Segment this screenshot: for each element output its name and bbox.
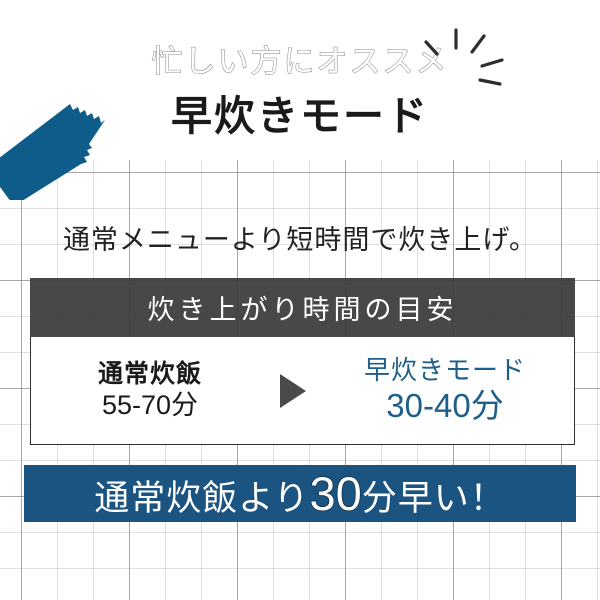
infographic-page: 忙しい方にオススメ 早炊きモード 通常メニューより短時間で炊き上げ。 炊き上がり…	[0, 0, 600, 600]
normal-cooking-time: 55-70分	[102, 390, 198, 421]
banner-suffix: 早い！	[398, 470, 506, 521]
banner-highlight-number: 30	[310, 466, 362, 521]
arrow-container	[263, 374, 323, 408]
column-normal-cooking: 通常炊飯 55-70分	[38, 360, 263, 422]
bottom-banner: 通常炊飯より 30 分 早い！	[24, 465, 576, 522]
triangle-right-icon	[280, 374, 306, 408]
banner-prefix: 通常炊飯より	[94, 470, 309, 521]
torn-tape-icon	[0, 100, 112, 200]
banner-unit: 分	[362, 470, 398, 521]
normal-cooking-label: 通常炊飯	[98, 360, 202, 389]
comparison-card-title: 炊き上がり時間の目安	[148, 288, 458, 327]
comparison-card-body: 通常炊飯 55-70分 早炊きモード 30-40分	[30, 337, 575, 445]
fast-cooking-time: 30-40分	[386, 387, 503, 425]
comparison-card-header: 炊き上がり時間の目安	[30, 278, 575, 337]
lead-sentence: 通常メニューより短時間で炊き上げ。	[0, 218, 600, 257]
comparison-card: 炊き上がり時間の目安 通常炊飯 55-70分 早炊きモード 30-40分	[30, 278, 575, 446]
bottom-banner-text: 通常炊飯より 30 分 早い！	[94, 466, 506, 521]
sparkle-burst-icon	[404, 8, 514, 88]
fast-cooking-label: 早炊きモード	[364, 356, 526, 386]
column-fast-cooking: 早炊きモード 30-40分	[323, 356, 568, 426]
